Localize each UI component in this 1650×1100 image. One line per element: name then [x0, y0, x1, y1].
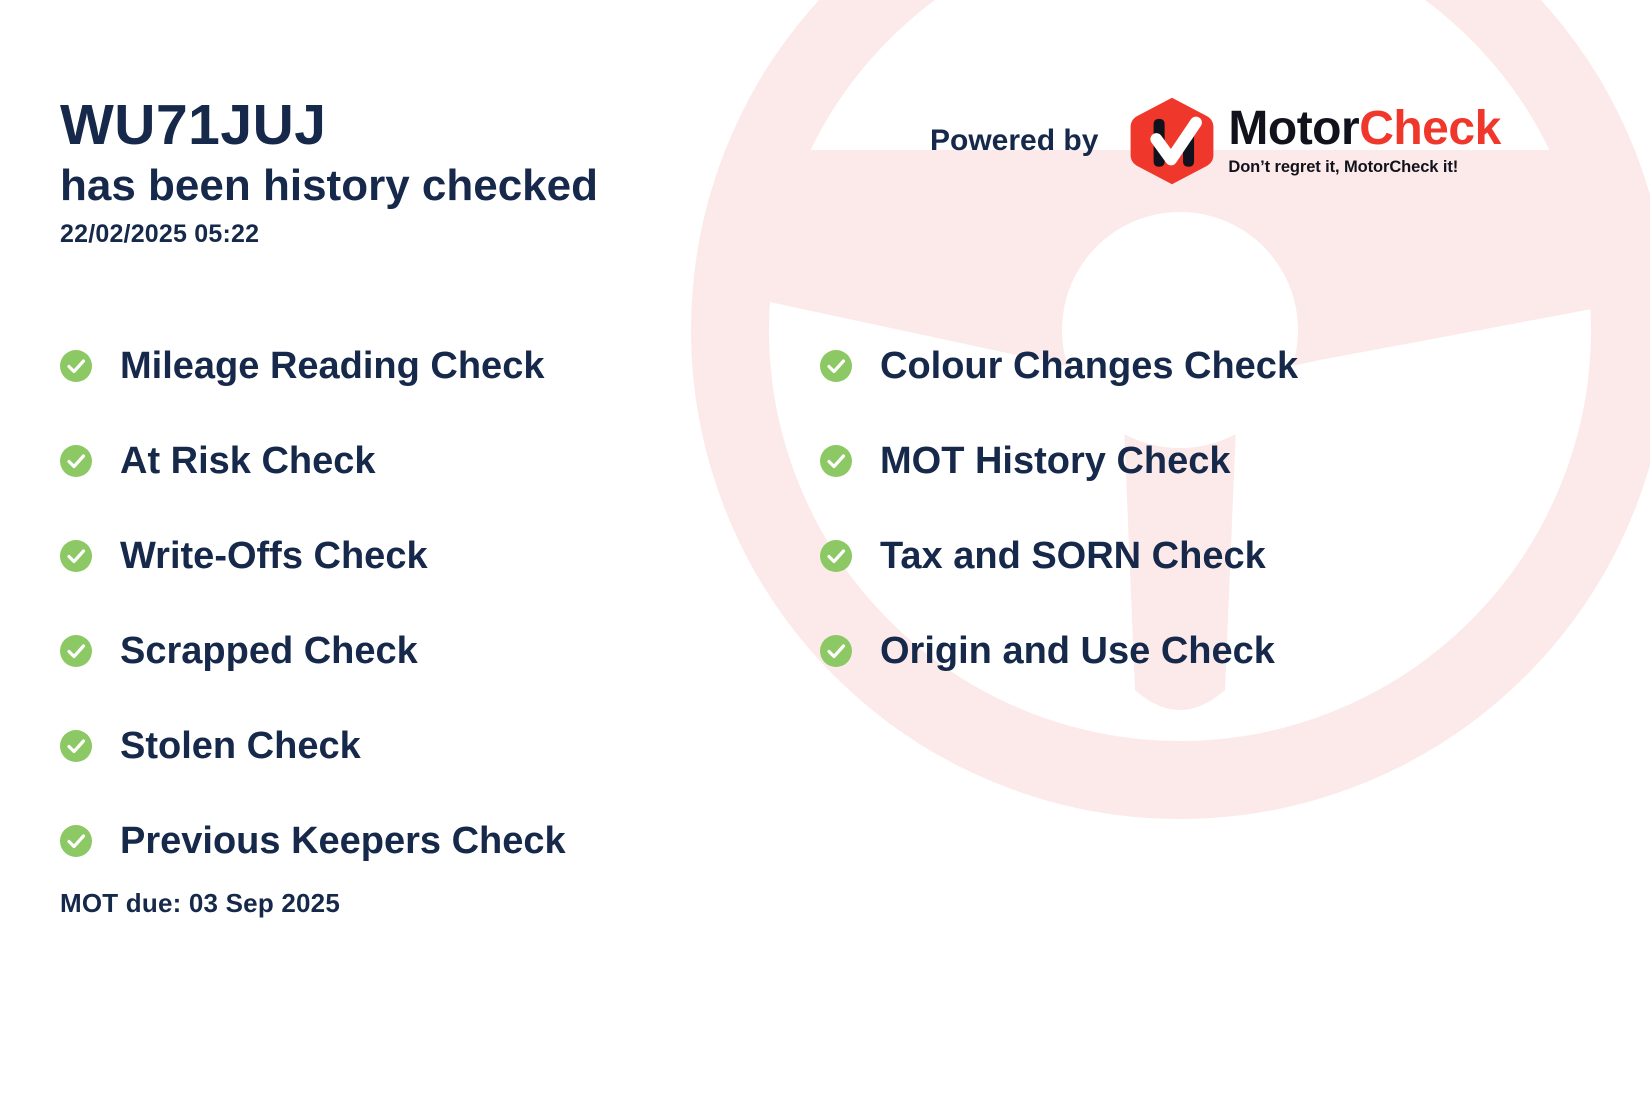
- checks-section: Mileage Reading Check At Risk Check Writ…: [60, 318, 1600, 888]
- mot-due-text: MOT due: 03 Sep 2025: [60, 888, 340, 919]
- check-circle-icon: [60, 350, 92, 382]
- check-circle-icon: [60, 540, 92, 572]
- check-item: Scrapped Check: [60, 603, 820, 698]
- motorcheck-hexagon-logo-icon: [1126, 95, 1218, 187]
- check-item: At Risk Check: [60, 413, 820, 508]
- check-label: Tax and SORN Check: [880, 537, 1266, 575]
- registration-plate: WU71JUJ: [60, 95, 820, 157]
- brand-tagline: Don’t regret it, MotorCheck it!: [1228, 158, 1500, 177]
- motorcheck-logo[interactable]: MotorCheck Don’t regret it, MotorCheck i…: [1126, 95, 1500, 187]
- check-circle-icon: [820, 540, 852, 572]
- check-label: Mileage Reading Check: [120, 347, 544, 385]
- check-circle-icon: [60, 730, 92, 762]
- check-circle-icon: [60, 445, 92, 477]
- check-item: Colour Changes Check: [820, 318, 1580, 413]
- check-item: Origin and Use Check: [820, 603, 1580, 698]
- check-label: Origin and Use Check: [880, 632, 1275, 670]
- wordmark-check: Check: [1359, 102, 1501, 155]
- check-circle-icon: [820, 635, 852, 667]
- check-circle-icon: [820, 350, 852, 382]
- check-timestamp: 22/02/2025 05:22: [60, 220, 820, 249]
- header-block: WU71JUJ has been history checked 22/02/2…: [60, 95, 820, 249]
- check-label: Stolen Check: [120, 727, 361, 765]
- check-label: MOT History Check: [880, 442, 1231, 480]
- check-label: Write-Offs Check: [120, 537, 428, 575]
- check-circle-icon: [60, 825, 92, 857]
- check-item: Stolen Check: [60, 698, 820, 793]
- check-item: Tax and SORN Check: [820, 508, 1580, 603]
- check-label: At Risk Check: [120, 442, 376, 480]
- check-item: MOT History Check: [820, 413, 1580, 508]
- check-item: Previous Keepers Check: [60, 793, 820, 888]
- check-item: Mileage Reading Check: [60, 318, 820, 413]
- check-circle-icon: [820, 445, 852, 477]
- motorcheck-wordmark: MotorCheck Don’t regret it, MotorCheck i…: [1228, 105, 1500, 177]
- check-item: Write-Offs Check: [60, 508, 820, 603]
- check-circle-icon: [60, 635, 92, 667]
- powered-by-label: Powered by: [930, 124, 1098, 158]
- checks-right-column: Colour Changes Check MOT History Check T…: [820, 318, 1580, 888]
- checks-left-column: Mileage Reading Check At Risk Check Writ…: [60, 318, 820, 888]
- powered-by-block: Powered by MotorCheck Don’t regret it, M…: [930, 95, 1501, 187]
- wordmark-motor: Motor: [1228, 102, 1359, 155]
- history-check-card: WU71JUJ has been history checked 22/02/2…: [0, 0, 1650, 1100]
- wordmark-line: MotorCheck: [1228, 105, 1500, 153]
- check-label: Scrapped Check: [120, 632, 418, 670]
- check-label: Colour Changes Check: [880, 347, 1298, 385]
- page-title: has been history checked: [60, 161, 820, 210]
- check-label: Previous Keepers Check: [120, 822, 566, 860]
